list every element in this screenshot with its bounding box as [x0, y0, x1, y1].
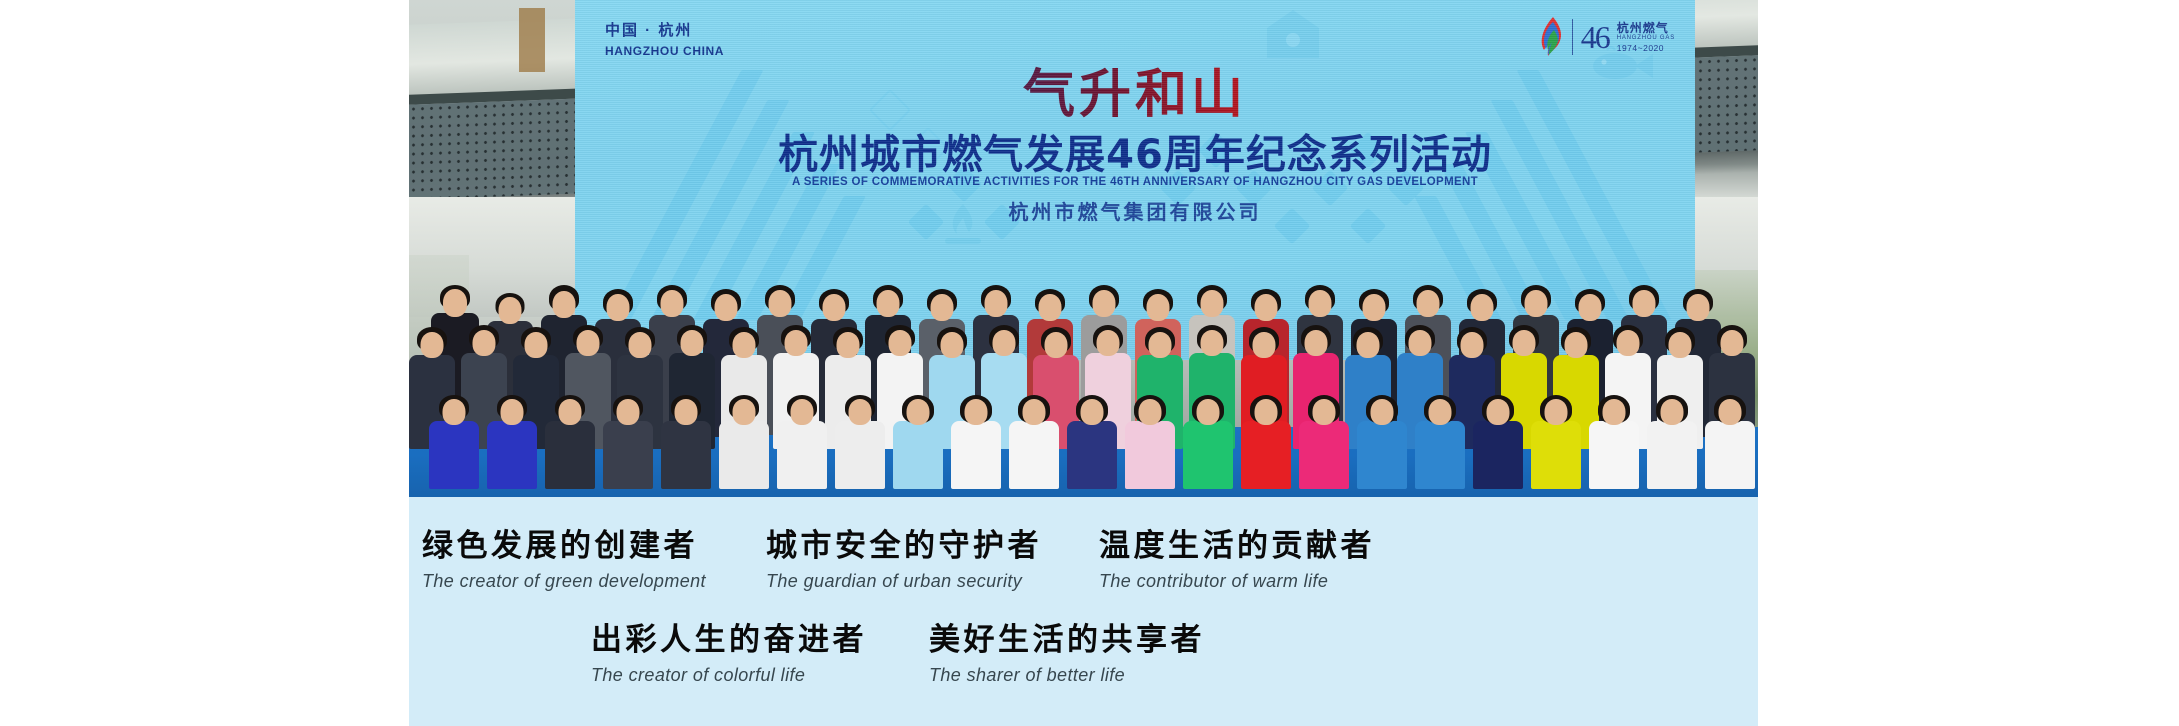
anniversary-number: 46	[1581, 21, 1609, 53]
venue-door-left	[519, 8, 545, 72]
caption-item-2: 城市安全的守护者 The guardian of urban security	[766, 529, 1042, 592]
caption-panel: 绿色发展的创建者 The creator of green developmen…	[409, 497, 1758, 726]
content-block: 中国 · 杭州 HANGZHOU CHINA 46 杭州燃气 HANGZHOU …	[409, 0, 1758, 726]
led-place-cn: 中国 · 杭州	[605, 22, 724, 41]
caption-cn: 美好生活的共享者	[929, 623, 1205, 659]
caption-item-4: 出彩人生的奋进者 The creator of colorful life	[591, 623, 867, 686]
brand-block: 杭州燃气 HANGZHOU GAS 1974~2020	[1617, 21, 1675, 53]
caption-item-3: 温度生活的贡献者 The contributor of warm life	[1099, 529, 1375, 592]
caption-cn: 出彩人生的奋进者	[591, 623, 867, 659]
caption-item-5: 美好生活的共享者 The sharer of better life	[929, 623, 1205, 686]
logo-divider	[1572, 19, 1573, 55]
caption-en: The creator of green development	[422, 571, 706, 592]
caption-cn: 城市安全的守护者	[766, 529, 1042, 565]
caption-en: The creator of colorful life	[591, 665, 867, 686]
calligraphy-title: 气升和山	[575, 52, 1695, 127]
brand-name-en: HANGZHOU GAS	[1617, 35, 1675, 42]
group-photo: 中国 · 杭州 HANGZHOU CHINA 46 杭州燃气 HANGZHOU …	[409, 0, 1758, 497]
caption-en: The guardian of urban security	[766, 571, 1042, 592]
caption-cn: 温度生活的贡献者	[1099, 529, 1375, 565]
caption-en: The sharer of better life	[929, 665, 1205, 686]
caption-item-1: 绿色发展的创建者 The creator of green developmen…	[422, 529, 706, 592]
brand-name-cn: 杭州燃气	[1617, 21, 1675, 35]
caption-cn: 绿色发展的创建者	[422, 529, 706, 565]
crowd-group	[409, 167, 1758, 497]
page-root: 中国 · 杭州 HANGZHOU CHINA 46 杭州燃气 HANGZHOU …	[0, 0, 2179, 726]
caption-en: The contributor of warm life	[1099, 571, 1375, 592]
